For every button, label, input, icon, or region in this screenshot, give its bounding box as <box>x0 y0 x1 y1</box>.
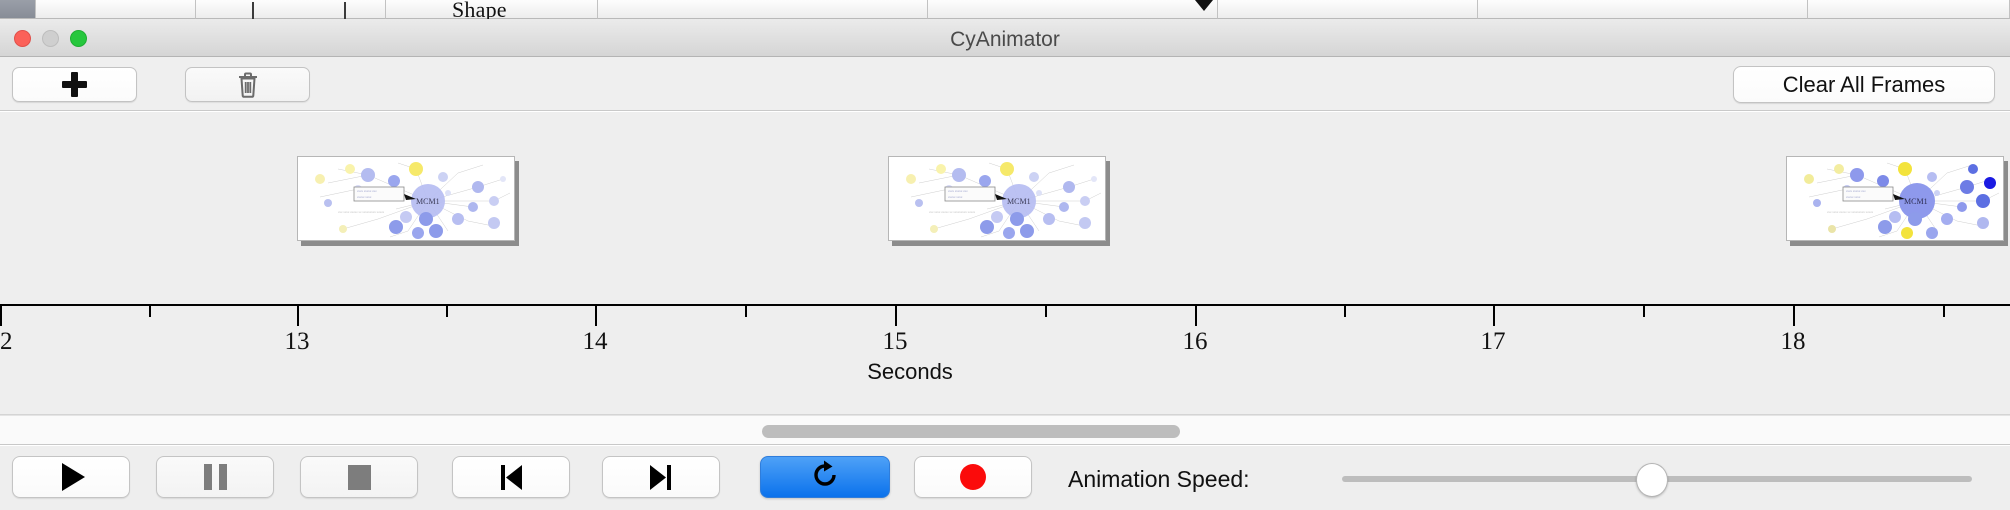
bg-panel-e <box>928 0 1218 19</box>
network-thumbnail: xxxx xxxxx xxx xxxxx xxxx MCM1 xxx xxxx … <box>297 156 515 241</box>
play-button[interactable] <box>12 456 130 498</box>
skip-backward-icon <box>498 464 524 491</box>
axis-title: Seconds <box>0 359 2010 385</box>
toolbar: Clear All Frames <box>0 57 2010 111</box>
bg-panel-a <box>36 0 196 19</box>
bg-panel-h <box>1808 0 2010 19</box>
animation-speed-slider-thumb[interactable] <box>1636 463 1668 497</box>
ruler-tick-minor <box>149 306 151 317</box>
svg-text:MCM1: MCM1 <box>1904 197 1928 206</box>
ruler-tick-major <box>1793 306 1795 326</box>
bg-panel-d <box>598 0 928 19</box>
play-icon <box>62 463 85 491</box>
animation-speed-label: Animation Speed: <box>1068 466 1250 493</box>
timeline-ruler <box>0 304 2010 306</box>
pause-icon <box>204 464 227 490</box>
bg-tick-1 <box>252 2 254 19</box>
stop-icon <box>348 465 371 490</box>
clear-all-frames-label: Clear All Frames <box>1783 72 1946 98</box>
timeline-scrollbar[interactable] <box>0 415 2010 445</box>
background-window-label: Shape <box>452 0 507 19</box>
ruler-tick-minor <box>446 306 448 317</box>
svg-text:MCM1: MCM1 <box>1007 197 1031 206</box>
svg-text:xxxx xxxxx xxx: xxxx xxxxx xxx <box>948 189 968 193</box>
axis-title-label: Seconds <box>867 359 953 384</box>
svg-text:xxxxx xxxx: xxxxx xxxx <box>948 195 963 199</box>
ruler-label: 16 <box>1183 328 1208 356</box>
svg-text:xxx xxxx xxxxx xx xxxxxxxxx xx: xxx xxxx xxxxx xx xxxxxxxxx xxxxx <box>1827 210 1874 214</box>
trash-icon <box>237 72 259 98</box>
bg-panel-f <box>1218 0 1478 19</box>
network-thumbnail: xxxx xxxxx xxx xxxxx xxxx MCM1 xxx xxxx … <box>888 156 1106 241</box>
skip-forward-icon <box>648 464 674 491</box>
ruler-label: 15 <box>883 328 908 356</box>
delete-frame-button[interactable] <box>185 67 310 102</box>
ruler-tick-major <box>1493 306 1495 326</box>
plus-icon <box>62 72 87 97</box>
svg-text:xxx xxxx xxxxx xx xxxxxxxxx xx: xxx xxxx xxxxx xx xxxxxxxxx xxxxx <box>929 210 976 214</box>
playback-control-bar: Animation Speed: <box>0 446 2010 510</box>
ruler-tick-major <box>0 306 2 326</box>
ruler-tick-minor <box>1943 306 1945 317</box>
record-icon <box>960 464 986 490</box>
svg-text:xxxxx xxxx: xxxxx xxxx <box>357 195 372 199</box>
ruler-label: 17 <box>1481 328 1506 356</box>
ruler-tick-minor <box>1045 306 1047 317</box>
record-button[interactable] <box>914 456 1032 498</box>
network-thumbnail: xxxx xxxxx xxx xxxxx xxxx MCM1 xxx xxxx … <box>1786 156 2004 241</box>
timeline-panel[interactable]: xxxx xxxxx xxx xxxxx xxxx MCM1 xxx xxxx … <box>0 112 2010 415</box>
ruler-tick-major <box>895 306 897 326</box>
svg-text:xxxx xxxxx xxx: xxxx xxxxx xxx <box>357 189 377 193</box>
background-window-strip: Shape <box>0 0 2010 19</box>
ruler-label: 12 <box>0 328 13 356</box>
cyanimator-window: Shape CyAnimator Clear All Fram <box>0 0 2010 510</box>
loop-icon <box>810 460 840 495</box>
bg-tick-2 <box>344 2 346 19</box>
bg-panel-b <box>196 0 386 19</box>
ruler-tick-major <box>297 306 299 326</box>
loop-button[interactable] <box>760 456 890 498</box>
ruler-tick-minor <box>1344 306 1346 317</box>
timeline-frame-thumbnail[interactable]: xxxx xxxxx xxx xxxxx xxxx MCM1 xxx xxxx … <box>888 156 1106 241</box>
bg-caret-icon <box>1195 0 1213 11</box>
svg-text:MCM1: MCM1 <box>416 197 440 206</box>
ruler-label: 14 <box>583 328 608 356</box>
ruler-tick-minor <box>1643 306 1645 317</box>
svg-text:xxxx xxxxx xxx: xxxx xxxxx xxx <box>1846 189 1866 193</box>
bg-panel-dark <box>0 0 36 19</box>
stop-button[interactable] <box>300 456 418 498</box>
ruler-tick-major <box>1195 306 1197 326</box>
scrollbar-thumb[interactable] <box>762 425 1180 438</box>
svg-text:xxxxx xxxx: xxxxx xxxx <box>1846 195 1861 199</box>
svg-text:xxx xxxx xxxxx xx xxxxxxxxx xx: xxx xxxx xxxxx xx xxxxxxxxx xxxxx <box>338 210 385 214</box>
pause-button[interactable] <box>156 456 274 498</box>
window-title: CyAnimator <box>0 28 2010 52</box>
ruler-tick-major <box>595 306 597 326</box>
ruler-tick-minor <box>745 306 747 317</box>
skip-forward-button[interactable] <box>602 456 720 498</box>
title-bar: CyAnimator <box>0 19 2010 57</box>
bg-panel-g <box>1478 0 1808 19</box>
ruler-label: 13 <box>285 328 310 356</box>
skip-backward-button[interactable] <box>452 456 570 498</box>
add-frame-button[interactable] <box>12 67 137 102</box>
timeline-frame-thumbnail[interactable]: xxxx xxxxx xxx xxxxx xxxx MCM1 xxx xxxx … <box>1786 156 2004 241</box>
timeline-frame-thumbnail[interactable]: xxxx xxxxx xxx xxxxx xxxx MCM1 xxx xxxx … <box>297 156 515 241</box>
ruler-label: 18 <box>1781 328 1806 356</box>
clear-all-frames-button[interactable]: Clear All Frames <box>1733 66 1995 103</box>
